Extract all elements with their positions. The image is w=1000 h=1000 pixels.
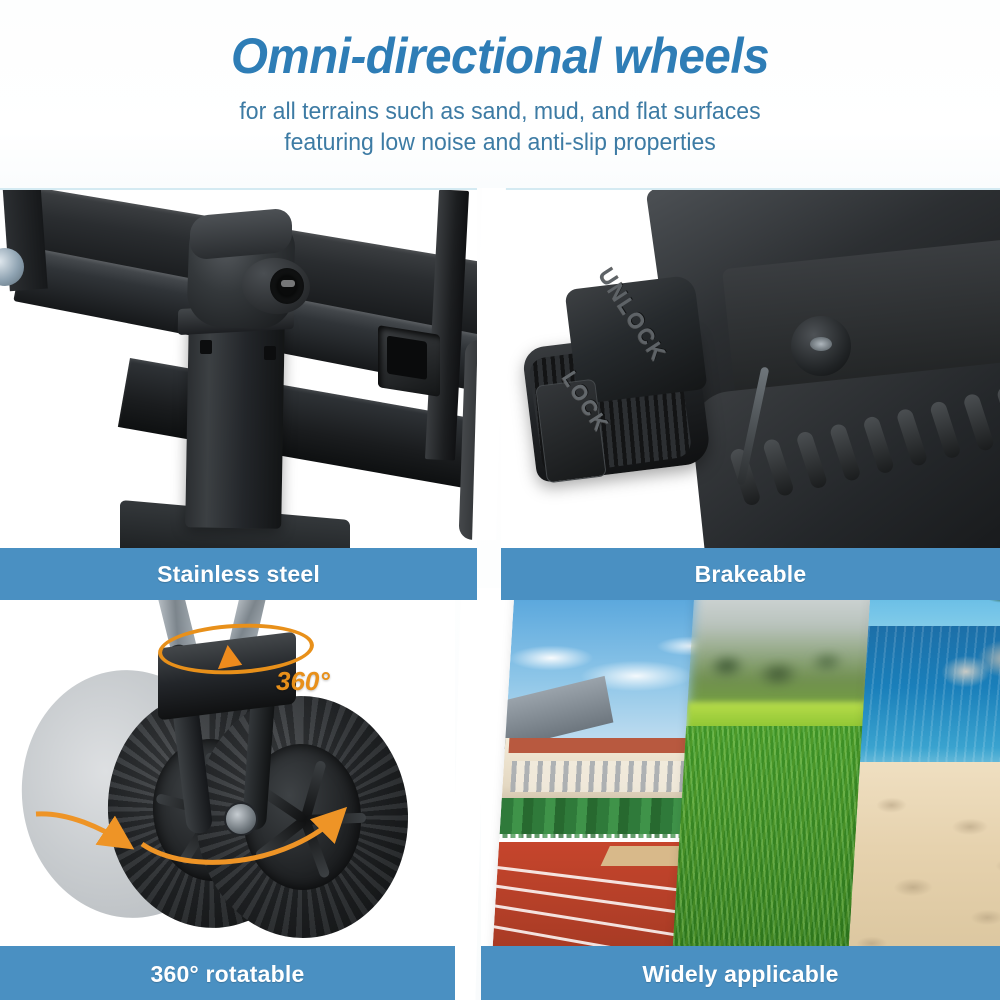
brakeable-photo: UNLOCK LOCK <box>501 190 1000 600</box>
brake-pivot-screw <box>791 316 851 376</box>
widely-applicable-photo <box>481 600 1000 1000</box>
panel-rotatable: 360° <box>0 598 455 1000</box>
square-tube-opening <box>378 325 440 397</box>
caption-stainless-steel: Stainless steel <box>0 548 477 600</box>
feature-grid: Stainless steel <box>0 188 1000 1000</box>
stainless-steel-photo <box>0 190 477 600</box>
terrain-photo-beach <box>847 600 1000 978</box>
post-notch-right <box>264 346 276 360</box>
caption-rotatable: 360° rotatable <box>0 946 455 1000</box>
panel-stainless-steel: Stainless steel <box>0 188 477 600</box>
wheel-swing-arrow-icon <box>118 788 358 874</box>
rotatable-photo: 360° <box>0 600 455 1000</box>
page-subtitle: for all terrains such as sand, mud, and … <box>20 83 980 160</box>
panel-brakeable: UNLOCK LOCK Brakeable <box>501 188 1000 600</box>
wheel-tilt-arrow-icon <box>28 806 140 852</box>
caption-brakeable: Brakeable <box>501 548 1000 600</box>
caption-widely-applicable: Widely applicable <box>481 946 1000 1000</box>
knuckle-bore-hole <box>270 268 304 304</box>
infographic-page: Omni-directional wheels for all terrains… <box>0 0 1000 1000</box>
panel-widely-applicable: Widely applicable <box>481 598 1000 1000</box>
terrain-photo-grass <box>671 600 880 978</box>
subtitle-line-1: for all terrains such as sand, mud, and … <box>239 98 760 125</box>
swivel-knuckle-top <box>190 208 292 261</box>
post-notch-left <box>200 340 212 354</box>
rotation-degree-label: 360° <box>276 666 330 697</box>
subtitle-line-2: featuring low noise and anti-slip proper… <box>284 129 716 156</box>
page-title: Omni-directional wheels <box>25 0 975 83</box>
header: Omni-directional wheels for all terrains… <box>0 0 1000 188</box>
